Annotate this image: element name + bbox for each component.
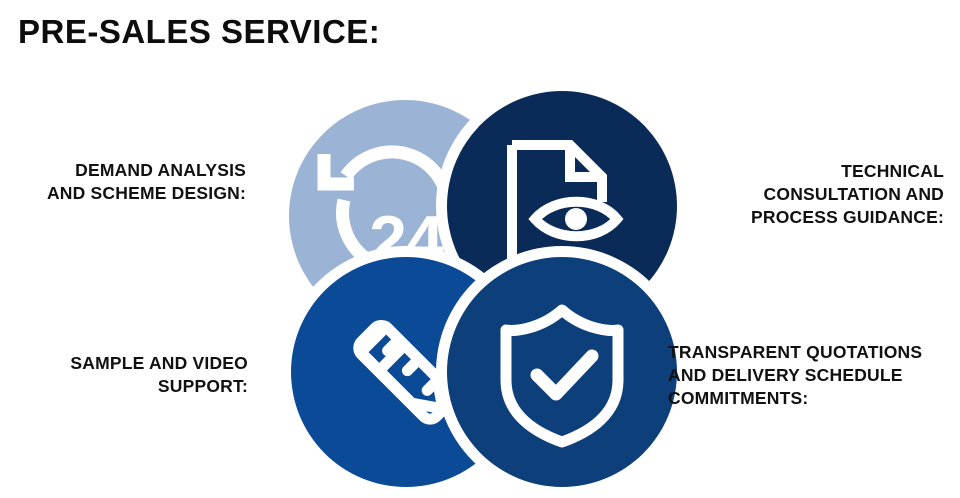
circle-transparent-quotations-fill	[447, 257, 677, 487]
label-transparent-quotations: TRANSPARENT QUOTATIONS AND DELIVERY SCHE…	[668, 341, 960, 410]
page-title: PRE-SALES SERVICE:	[18, 12, 380, 52]
label-demand-analysis: DEMAND ANALYSIS AND SCHEME DESIGN:	[0, 159, 246, 205]
venn-diagram: 24	[260, 80, 700, 498]
label-technical-consultation: TECHNICAL CONSULTATION AND PROCESS GUIDA…	[728, 160, 944, 229]
label-sample-video-support: SAMPLE AND VIDEO SUPPORT:	[0, 352, 248, 398]
circle-transparent-quotations[interactable]	[436, 246, 688, 498]
eye-pupil-icon	[565, 208, 587, 230]
infographic-canvas: PRE-SALES SERVICE: 24	[0, 0, 960, 498]
